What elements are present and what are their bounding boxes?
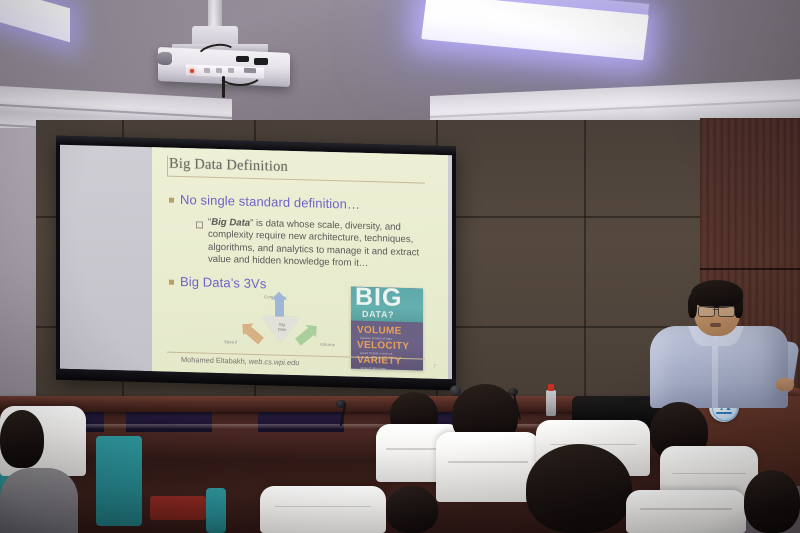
bullet-square-icon	[169, 280, 174, 285]
diagram-center-line1: Big	[279, 323, 285, 327]
glasses-bridge	[713, 309, 718, 310]
poster-subhead: DATA?	[362, 309, 394, 320]
chair-teal	[96, 436, 142, 526]
presenter-mouth	[710, 323, 721, 327]
slide-page-number: 7	[433, 364, 436, 370]
slide-footer-url: web.cs.wpi.edu	[249, 357, 300, 367]
slide-footer-author: Mohamed Eltabakh,	[181, 355, 247, 366]
slide-bullet-1-text: No single standard definition…	[180, 192, 360, 212]
bullet-hollow-square-icon	[196, 221, 203, 228]
slide-footer: Mohamed Eltabakh, web.cs.wpi.edu	[181, 355, 299, 367]
diagram-center-line2: Data	[278, 327, 286, 331]
water-bottle	[546, 390, 556, 416]
projector-plug	[254, 58, 268, 65]
audience-shoulders	[0, 468, 78, 533]
screen-surface: Big Data Definition No single standard d…	[60, 145, 452, 380]
microphone-icon	[336, 400, 346, 408]
projector-lens-icon	[156, 52, 172, 65]
audience-head	[0, 410, 44, 468]
presenter	[644, 282, 794, 407]
slide-subbullet-block: “Big Data” is data whose scale, diversit…	[196, 216, 432, 272]
diagram-label-left: Speed	[224, 339, 237, 344]
slide-bullet-2-text: Big Data’s 3Vs	[180, 274, 266, 291]
chair-teal	[206, 488, 226, 533]
lecture-hall-scene: Big Data Definition No single standard d…	[0, 0, 800, 533]
3vs-triangle-diagram: Complexity Speed Volume Big Data	[224, 293, 339, 358]
diagram-arrow-up	[275, 299, 284, 317]
projector-hanging-cable	[222, 76, 225, 98]
slide-subbullet-text: “Big Data” is data whose scale, diversit…	[208, 217, 432, 273]
presenter-hand	[776, 378, 794, 391]
chair-cover	[436, 432, 540, 502]
diagram-center-label: Big Data	[270, 322, 294, 332]
projection-screen: Big Data Definition No single standard d…	[56, 136, 456, 391]
projector-power-led-icon	[190, 69, 194, 73]
audience-head	[386, 486, 438, 533]
chair-cover	[626, 490, 746, 533]
audience-head	[744, 470, 800, 533]
poster-headline: BIG	[355, 287, 423, 312]
glasses-icon	[718, 306, 735, 317]
slide-bullet-1: No single standard definition…	[169, 192, 360, 212]
shirt-placket	[712, 336, 718, 408]
glasses-icon	[698, 306, 715, 317]
ceiling-light-corner	[0, 0, 70, 42]
slide-content: Big Data Definition No single standard d…	[152, 147, 448, 379]
diagram-label-right: Volume	[320, 342, 335, 347]
audience-head-front	[526, 444, 632, 533]
chair-red-seat	[150, 496, 206, 520]
bullet-square-icon	[169, 198, 174, 203]
chair-cover	[260, 486, 386, 533]
slide-bullet-2: Big Data’s 3Vs	[169, 274, 266, 292]
projector-plug	[236, 56, 249, 62]
slide-title: Big Data Definition	[169, 156, 288, 176]
presenter-hair	[691, 280, 743, 308]
